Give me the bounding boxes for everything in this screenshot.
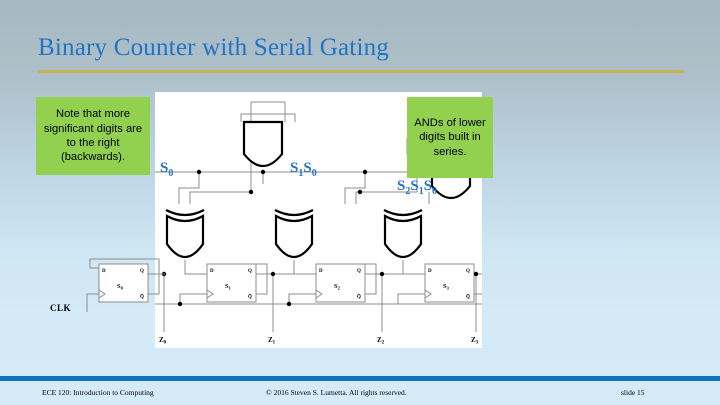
output-label-z0: Z0 [159, 336, 167, 346]
xor-gate-0-group [155, 192, 215, 272]
footer-copyright-label: © 2016 Steven S. Lumetta. All rights res… [266, 388, 407, 397]
output-label-z3: Z3 [471, 336, 479, 346]
flipflop-box: D Q Q̅ S3 [425, 264, 474, 302]
flipflop-group: D Q Q̅ S1 D Q Q̅ S2 D Q Q̅ S3 [207, 264, 474, 302]
footer-course-label: ECE 120: Introduction to Computing [42, 388, 154, 397]
page-title: Binary Counter with Serial Gating [38, 34, 389, 62]
pin-label-d: D [102, 269, 106, 274]
pin-label-qbar: Q̅ [248, 294, 252, 300]
signal-label-s2s1s0: S2S1S0 [397, 178, 437, 197]
output-labels: Z0 Z1 Z2 Z3 [159, 336, 479, 346]
xor-gate-3 [384, 210, 422, 257]
clk-label: CLK [50, 303, 71, 313]
output-label-z1: Z1 [268, 336, 276, 346]
pin-label-q: Q [357, 269, 361, 274]
flipflop-box: D Q Q̅ S2 [316, 264, 365, 302]
pin-label-qbar: Q̅ [466, 294, 470, 300]
pin-label-d: D [428, 269, 432, 274]
pin-label-q: Q [140, 269, 144, 274]
signal-label-s0: S0 [160, 160, 173, 179]
title-divider [38, 70, 684, 73]
callout-left: Note that more significant digits are to… [36, 97, 150, 175]
pin-label-q: Q [248, 269, 252, 274]
and-gate-1 [244, 122, 282, 166]
pin-label-d: D [319, 269, 323, 274]
callout-right: ANDs of lower digits built in series. [407, 97, 493, 178]
slide-canvas: Binary Counter with Serial Gating [0, 0, 720, 405]
output-label-z2: Z2 [377, 336, 385, 346]
flipflop-s0-group: D Q Q̅ S0 [85, 255, 165, 315]
xor-gate-2 [275, 210, 313, 257]
pin-label-q: Q [466, 269, 470, 274]
footer-slide-number: slide 15 [621, 388, 645, 397]
pin-label-qbar: Q̅ [140, 294, 144, 300]
signal-label-s1s0: S1S0 [290, 160, 317, 179]
pin-label-qbar: Q̅ [357, 294, 361, 300]
